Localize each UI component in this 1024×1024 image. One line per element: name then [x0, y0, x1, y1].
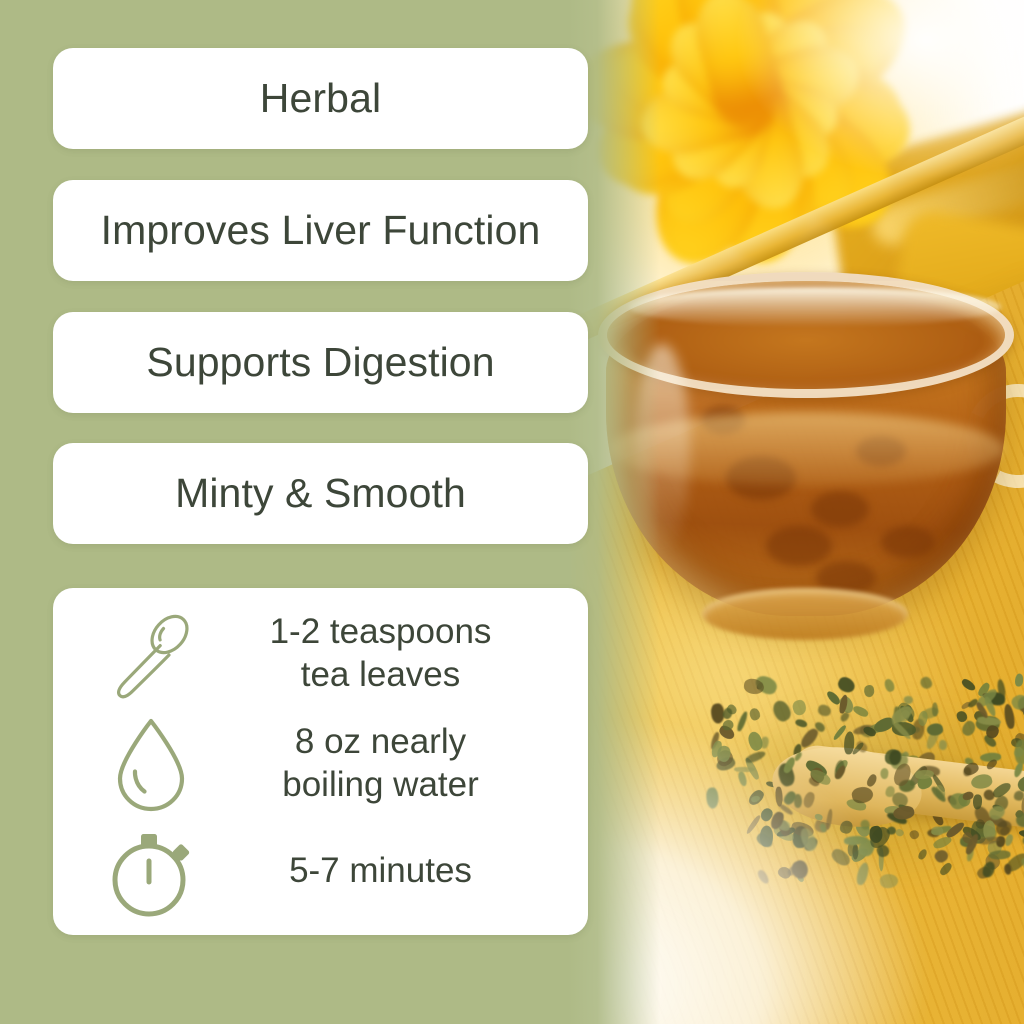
benefit-card-liver-function: Improves Liver Function [53, 180, 588, 281]
spoon-icon [97, 602, 205, 706]
brewing-row-tea-leaves: 1-2 teaspoons tea leaves [53, 602, 588, 706]
glass-teacup [598, 272, 1024, 644]
benefit-label: Herbal [260, 77, 381, 120]
steeped-leaf-speck [766, 526, 832, 566]
teacup-rim-highlight [629, 287, 1001, 327]
benefit-label: Improves Liver Function [101, 209, 541, 252]
benefit-card-digestion: Supports Digestion [53, 312, 588, 413]
photo-highlight-top-right [734, 0, 1024, 180]
product-info-graphic: Herbal Improves Liver Function Supports … [0, 0, 1024, 1024]
stopwatch-icon [97, 822, 205, 922]
benefit-label: Supports Digestion [146, 341, 494, 384]
benefit-label: Minty & Smooth [175, 472, 466, 515]
water-drop-icon [97, 712, 205, 816]
brewing-row-steep-time: 5-7 minutes [53, 822, 588, 922]
brewing-text: 5-7 minutes [205, 850, 562, 893]
brewing-row-water: 8 oz nearly boiling water [53, 712, 588, 816]
brewing-text: 8 oz nearly boiling water [205, 721, 562, 806]
steeped-leaf-speck [881, 526, 935, 558]
brewing-instructions-card: 1-2 teaspoons tea leaves 8 oz nearly boi… [53, 588, 588, 935]
brewing-text: 1-2 teaspoons tea leaves [205, 611, 562, 696]
steeped-leaf-speck [811, 491, 869, 527]
benefit-card-herbal: Herbal [53, 48, 588, 149]
benefit-card-minty-smooth: Minty & Smooth [53, 443, 588, 544]
teacup-foot [702, 588, 908, 640]
tea-leaf-flake [1004, 864, 1012, 875]
tea-leaf-flake [973, 794, 982, 809]
